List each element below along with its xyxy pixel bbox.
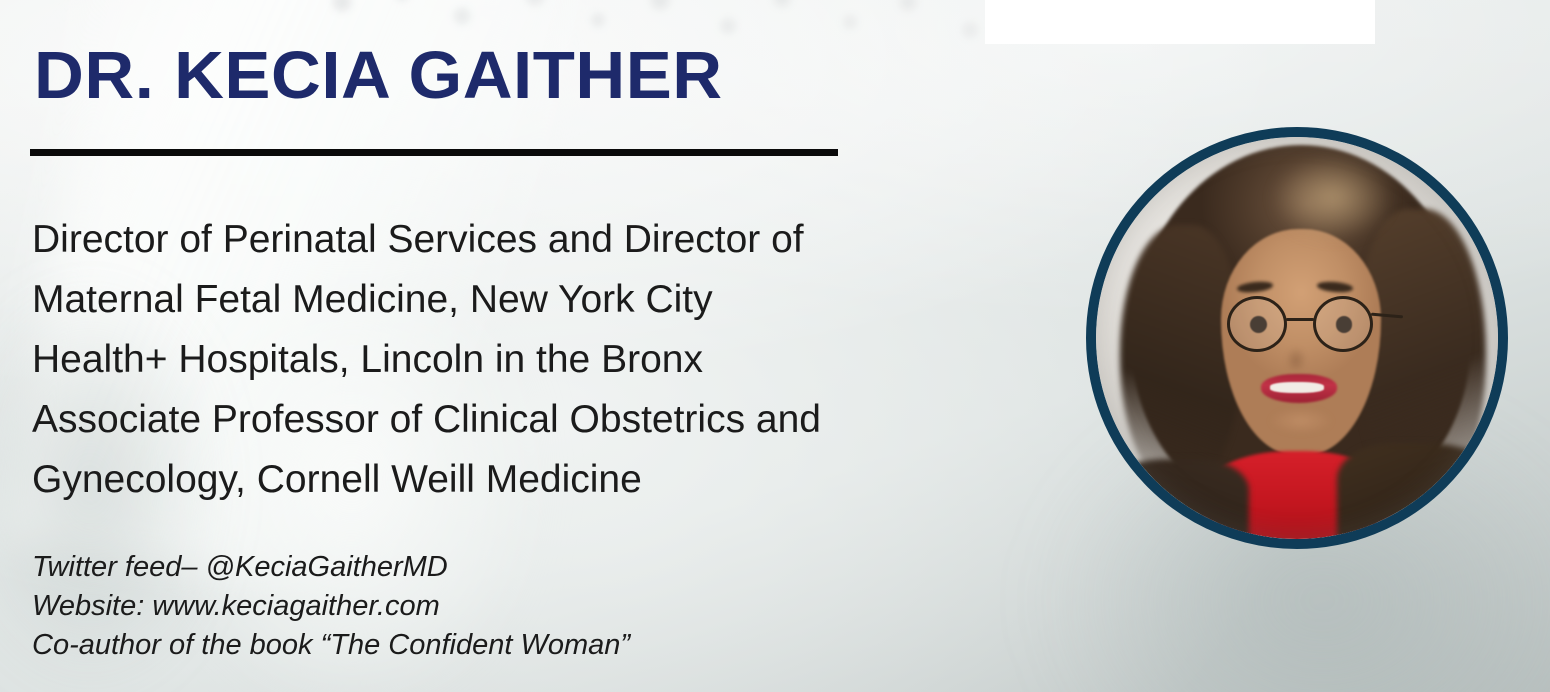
speaker-portrait-avatar xyxy=(1086,127,1508,549)
portrait-image xyxy=(1096,137,1498,539)
speaker-name-title: DR. KECIA GAITHER xyxy=(34,42,723,109)
bio-line: Director of Perinatal Services and Direc… xyxy=(32,210,1052,270)
bio-line: Health+ Hospitals, Lincoln in the Bronx xyxy=(32,330,1052,390)
bio-line: Gynecology, Cornell Weill Medicine xyxy=(32,450,1052,510)
speaker-bio-block: Director of Perinatal Services and Direc… xyxy=(32,210,1052,510)
bio-line: Maternal Fetal Medicine, New York City xyxy=(32,270,1052,330)
website-line: Website: www.keciagaither.com xyxy=(32,587,630,626)
book-credit-line: Co-author of the book “The Confident Wom… xyxy=(32,626,630,665)
white-banner-strip xyxy=(985,0,1375,44)
portrait-vignette xyxy=(1096,137,1498,539)
speaker-contact-block: Twitter feed– @KeciaGaitherMD Website: w… xyxy=(32,548,630,665)
twitter-handle-line: Twitter feed– @KeciaGaitherMD xyxy=(32,548,630,587)
speaker-intro-slide: DR. KECIA GAITHER Director of Perinatal … xyxy=(0,0,1550,692)
bio-line: Associate Professor of Clinical Obstetri… xyxy=(32,390,1052,450)
title-underline-rule xyxy=(30,149,838,156)
